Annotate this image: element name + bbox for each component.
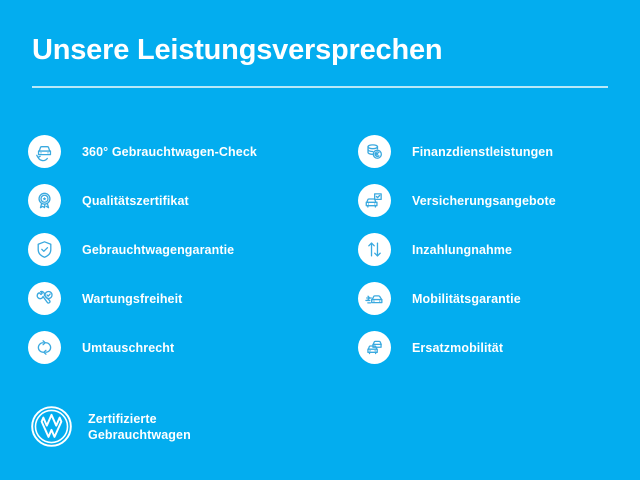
- car-route-check-icon: [358, 282, 391, 315]
- benefit-label: Inzahlungnahme: [412, 243, 512, 257]
- coins-euro-icon: [358, 135, 391, 168]
- benefit-item-umtauschrecht: Umtauschrecht: [28, 323, 318, 372]
- benefit-label: 360° Gebrauchtwagen-Check: [82, 145, 257, 159]
- benefit-label: Umtauschrecht: [82, 341, 174, 355]
- benefit-item-mobilitaetsgarantie: Mobilitätsgarantie: [358, 274, 640, 323]
- benefit-item-wartungsfreiheit: Wartungsfreiheit: [28, 274, 318, 323]
- brand-text-line2: Gebrauchtwagen: [88, 427, 191, 443]
- benefit-label: Versicherungsangebote: [412, 194, 556, 208]
- benefit-label: Mobilitätsgarantie: [412, 292, 521, 306]
- two-cars-icon: [358, 331, 391, 364]
- volkswagen-logo: [29, 404, 74, 449]
- up-down-arrows-icon: [358, 233, 391, 266]
- benefit-item-finanzdienstleistungen: Finanzdienstleistungen: [358, 127, 640, 176]
- benefit-item-inzahlungnahme: Inzahlungnahme: [358, 225, 640, 274]
- award-rosette-icon: [28, 184, 61, 217]
- car-360-check-icon: [28, 135, 61, 168]
- benefit-item-qualitaetszertifikat: Qualitätszertifikat: [28, 176, 318, 225]
- brand-text-line1: Zertifizierte: [88, 411, 191, 427]
- benefit-label: Wartungsfreiheit: [82, 292, 182, 306]
- benefit-item-versicherungsangebote: Versicherungsangebote: [358, 176, 640, 225]
- benefit-item-ersatzmobilitaet: Ersatzmobilität: [358, 323, 640, 372]
- title-divider: [32, 86, 608, 88]
- benefit-label: Finanzdienstleistungen: [412, 145, 553, 159]
- benefit-column-right: Finanzdienstleistungen Versicherungsange…: [358, 127, 640, 372]
- benefit-item-gebrauchtwagengarantie: Gebrauchtwagengarantie: [28, 225, 318, 274]
- benefit-label: Qualitätszertifikat: [82, 194, 189, 208]
- promise-panel: Unsere Leistungsversprechen 360° Gebrauc…: [0, 0, 640, 480]
- benefit-label: Gebrauchtwagengarantie: [82, 243, 234, 257]
- benefit-column-left: 360° Gebrauchtwagen-Check Qualitätszerti…: [28, 127, 318, 372]
- exchange-arrows-icon: [28, 331, 61, 364]
- brand-text: Zertifizierte Gebrauchtwagen: [88, 411, 191, 443]
- benefit-item-gebrauchtwagen-check: 360° Gebrauchtwagen-Check: [28, 127, 318, 176]
- brand-lockup: Zertifizierte Gebrauchtwagen: [29, 404, 191, 449]
- benefit-label: Ersatzmobilität: [412, 341, 503, 355]
- car-document-check-icon: [358, 184, 391, 217]
- shield-check-icon: [28, 233, 61, 266]
- page-title: Unsere Leistungsversprechen: [32, 31, 442, 69]
- wrench-check-icon: [28, 282, 61, 315]
